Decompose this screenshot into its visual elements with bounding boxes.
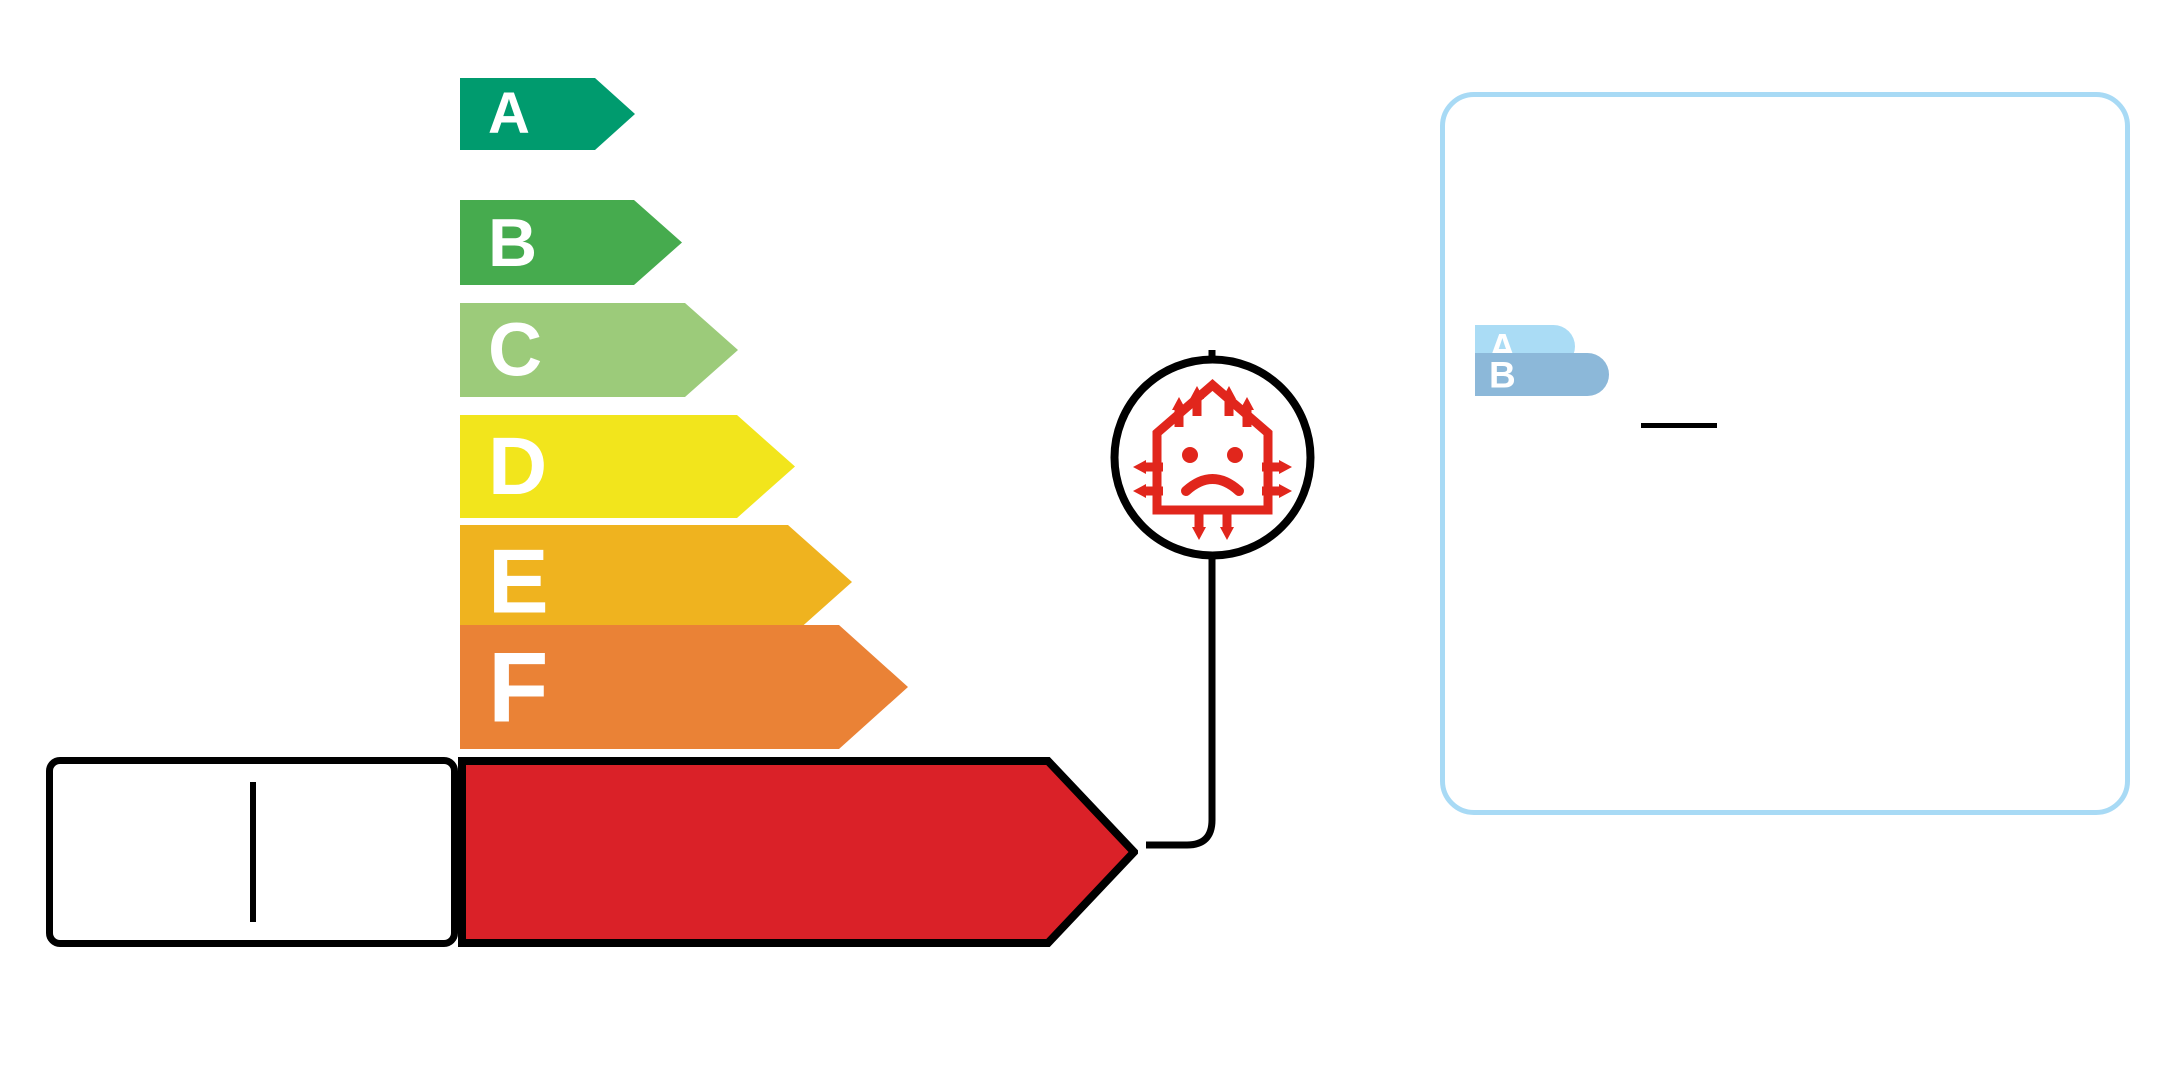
energy-bar-row-a[interactable]: A (460, 78, 635, 150)
value-box (46, 757, 458, 947)
co2-bar-letter-b: B (1489, 356, 1516, 393)
energy-bar-letter-b: B (488, 209, 537, 277)
energy-bar-letter-f: F (488, 638, 548, 737)
co2-bar-shape-b: B (1475, 353, 1609, 396)
co2-bar-row-b[interactable]: B (1475, 353, 1609, 396)
energy-bar-row-f[interactable]: F (460, 625, 908, 749)
energy-bar-shape-a (460, 78, 635, 150)
co2-emissions-panel: AB (1440, 92, 2130, 815)
energy-bar-row-c[interactable]: C (460, 303, 738, 397)
energy-bar-letter-d: D (488, 426, 547, 508)
energy-bar-row-b[interactable]: B (460, 200, 682, 285)
energy-bar-shape-g (458, 757, 1138, 947)
energy-bar-row-d[interactable]: D (460, 415, 795, 518)
energy-bar-row-selected[interactable] (458, 757, 1138, 947)
co2-callout-line (1641, 423, 1717, 428)
energy-bar-row-e[interactable]: E (460, 525, 852, 639)
energy-bar-letter-e: E (488, 537, 549, 628)
energy-bar-letter-a: A (488, 85, 530, 143)
emissions-value-cell (256, 764, 451, 940)
consumption-value-cell (53, 764, 250, 940)
sad-house-heat-loss-icon (1110, 355, 1315, 560)
energy-bar-letter-c: C (488, 313, 542, 388)
energy-performance-scale: ABCDEF (0, 0, 1250, 1079)
